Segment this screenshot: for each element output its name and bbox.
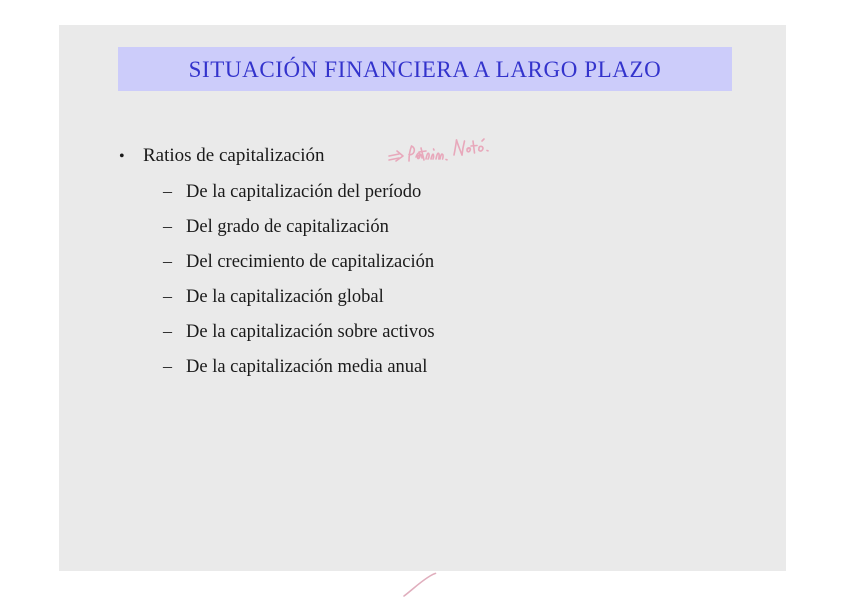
list-item: – De la capitalización del período <box>111 181 751 216</box>
list-item-label: De la capitalización media anual <box>186 357 427 378</box>
sub-list: – De la capitalización del período – Del… <box>111 181 751 391</box>
list-item: – De la capitalización media anual <box>111 356 751 391</box>
slide-title-box: SITUACIÓN FINANCIERA A LARGO PLAZO <box>118 47 732 91</box>
bullet-dot-icon: • <box>111 148 143 166</box>
list-item: – De la capitalización sobre activos <box>111 321 751 356</box>
dash-bullet-icon: – <box>163 356 186 377</box>
list-item-label: Del crecimiento de capitalización <box>186 252 434 273</box>
list-item-label: De la capitalización global <box>186 287 384 308</box>
slide-canvas: SITUACIÓN FINANCIERA A LARGO PLAZO • Rat… <box>59 25 786 571</box>
list-item-label: Ratios de capitalización <box>143 145 324 167</box>
list-item: – Del grado de capitalización <box>111 216 751 251</box>
dash-bullet-icon: – <box>163 286 186 307</box>
dash-bullet-icon: – <box>163 251 186 272</box>
dash-bullet-icon: – <box>163 216 186 237</box>
slide-body: • Ratios de capitalización – De la capit… <box>111 145 751 391</box>
list-item: • Ratios de capitalización <box>111 145 751 179</box>
list-item-label: Del grado de capitalización <box>186 217 389 238</box>
list-item: – Del crecimiento de capitalización <box>111 251 751 286</box>
list-item-label: De la capitalización sobre activos <box>186 322 435 343</box>
dash-bullet-icon: – <box>163 321 186 342</box>
list-item: – De la capitalización global <box>111 286 751 321</box>
dash-bullet-icon: – <box>163 181 186 202</box>
list-item-label: De la capitalización del período <box>186 182 421 203</box>
page-title: SITUACIÓN FINANCIERA A LARGO PLAZO <box>189 58 662 81</box>
